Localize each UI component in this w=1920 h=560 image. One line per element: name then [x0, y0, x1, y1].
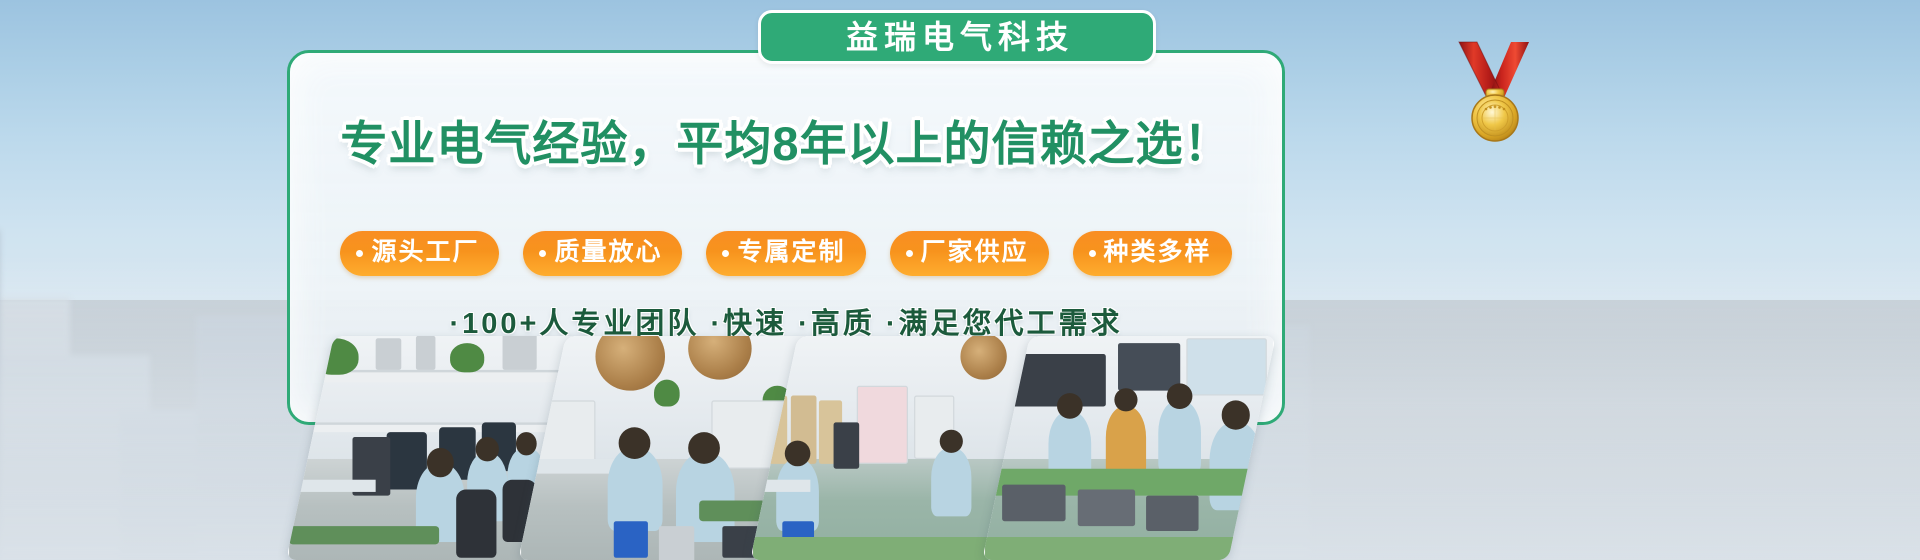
bullet-dot-icon: [722, 250, 729, 257]
bullet-dot-icon: [1089, 250, 1096, 257]
feature-pill[interactable]: 质量放心: [523, 231, 682, 276]
factory-photo[interactable]: [982, 336, 1276, 560]
feature-pill-label: 质量放心: [554, 240, 662, 267]
headline-text: 专业电气经验，平均8年以上的信赖之选！: [287, 105, 1285, 174]
brand-badge: 益瑞电气科技: [758, 10, 1156, 64]
feature-pill[interactable]: 种类多样: [1073, 231, 1232, 276]
feature-pill[interactable]: 专属定制: [706, 231, 865, 276]
feature-pill-label: 源头工厂: [371, 240, 479, 267]
packing-line-workers-photo: [985, 336, 1273, 560]
bullet-dot-icon: [906, 250, 913, 257]
bullet-dot-icon: [539, 250, 546, 257]
feature-pill-label: 厂家供应: [921, 240, 1029, 267]
brand-badge-label: 益瑞电气科技: [840, 21, 1074, 53]
feature-pill-label: 专属定制: [737, 240, 845, 267]
factory-photo-strip: [310, 336, 1310, 560]
feature-pill[interactable]: 厂家供应: [890, 231, 1049, 276]
feature-pill[interactable]: 源头工厂: [340, 231, 499, 276]
gold-medal-icon: [1455, 40, 1535, 145]
bullet-dot-icon: [356, 250, 363, 257]
feature-pill-label: 种类多样: [1104, 240, 1212, 267]
feature-pill-row: 源头工厂 质量放心 专属定制 厂家供应 种类多样: [287, 231, 1285, 276]
